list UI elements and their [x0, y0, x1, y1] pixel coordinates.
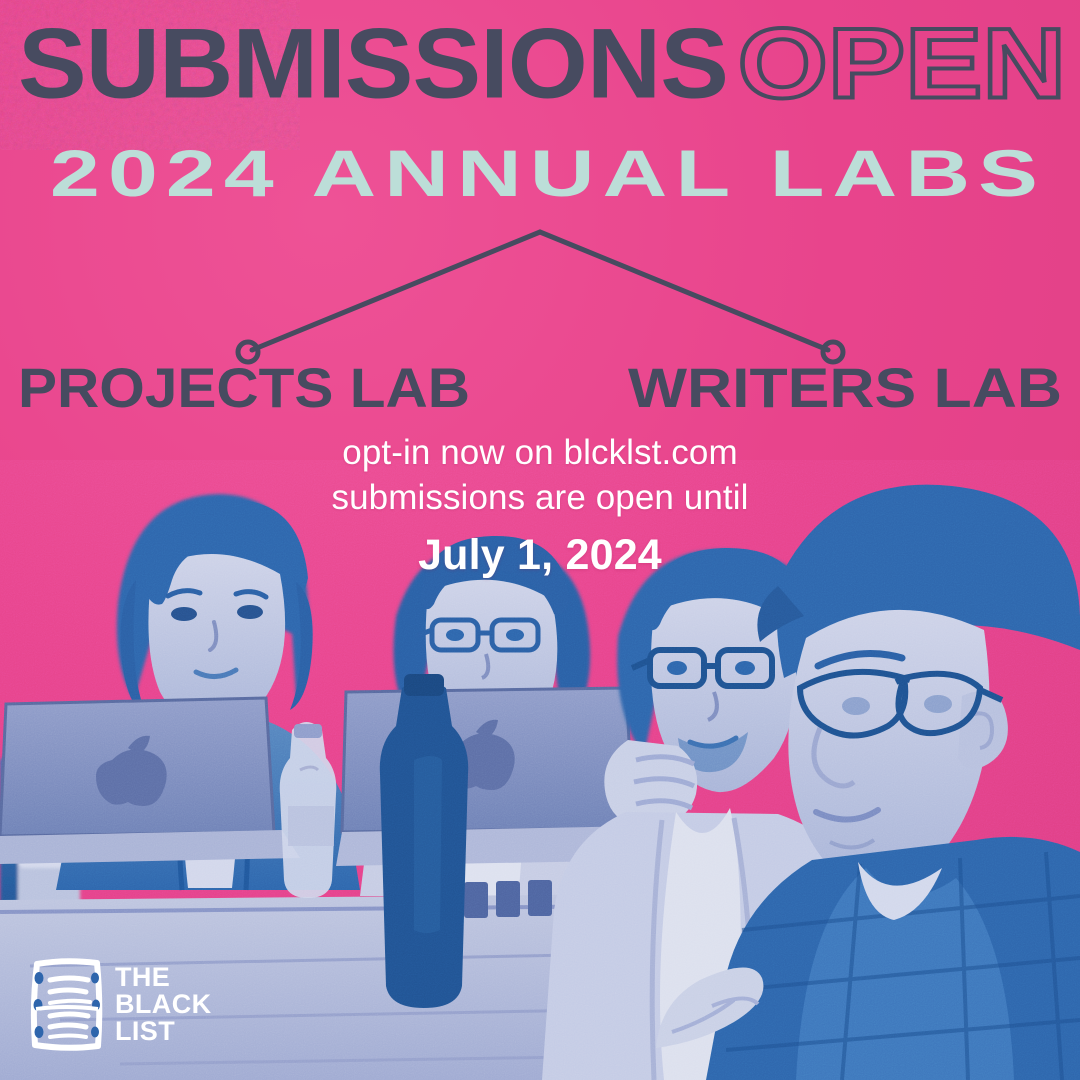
label-writers-lab[interactable]: WRITERS LAB	[628, 360, 1062, 418]
headline-submissions: SUBMISSIONS	[18, 16, 728, 119]
copy-line-optin: opt-in now on blcklst.com	[0, 430, 1080, 475]
logo-word-black: BLACK	[115, 991, 212, 1018]
lab-labels: PROJECTS LAB WRITERS LAB	[0, 360, 1080, 420]
headline-open-outline: OPEN	[738, 16, 1066, 119]
logo-word-list: LIST	[115, 1018, 212, 1045]
logo-wordmark: THE BLACK LIST	[115, 964, 212, 1045]
body-copy: opt-in now on blcklst.com submissions ar…	[0, 430, 1080, 580]
headline-line-1: SUBMISSIONS OPEN	[18, 16, 1068, 120]
script-pages-icon	[28, 956, 104, 1052]
label-projects-lab[interactable]: PROJECTS LAB	[18, 360, 470, 418]
logo-word-the: THE	[115, 964, 212, 991]
copy-line-open-until: submissions are open until	[0, 475, 1080, 520]
poster-canvas: SUBMISSIONS OPEN 2024 ANNUAL LABS PROJEC…	[0, 0, 1080, 1080]
brand-logo[interactable]: THE BLACK LIST	[28, 956, 212, 1052]
deadline-date: July 1, 2024	[0, 530, 1080, 580]
headline-line-2: 2024 ANNUAL LABS	[50, 138, 1050, 210]
headline-annual-labs: 2024 ANNUAL LABS	[50, 138, 1046, 210]
